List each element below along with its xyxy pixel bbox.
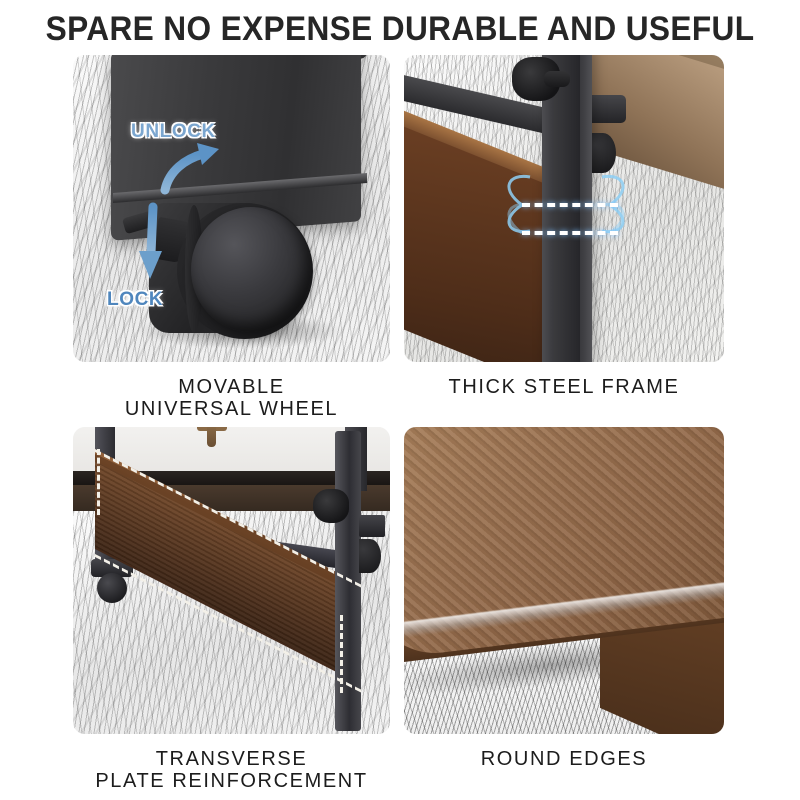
lock-unlock-arrows	[73, 55, 390, 362]
adjustment-knob	[313, 489, 349, 523]
caption-line-1: MOVABLE	[178, 376, 284, 398]
steel-bracket-upper	[359, 515, 385, 537]
plate-outline-dashed-right	[340, 615, 343, 693]
product-photo-transverse-plate	[73, 427, 390, 734]
plate-outline-dashed-left	[97, 449, 100, 515]
page-title-bar: SPARE NO EXPENSE DURABLE AND USEFUL	[0, 6, 800, 52]
caption-line-2: UNIVERSAL WHEEL	[73, 398, 390, 420]
annotation-lock-label: LOCK	[107, 289, 163, 311]
page-title: SPARE NO EXPENSE DURABLE AND USEFUL	[46, 10, 755, 49]
caption-line-1: ROUND EDGES	[481, 748, 648, 770]
feature-panel-thick-steel-frame[interactable]: THICK STEEL FRAME	[404, 55, 724, 398]
lamp-stem-icon	[207, 427, 216, 447]
feature-panel-movable-universal-wheel[interactable]: UNLOCK LOCK MOVABLE UNIVERSAL WHEEL	[73, 55, 390, 421]
panel-caption-movable-universal-wheel: MOVABLE UNIVERSAL WHEEL	[73, 376, 390, 421]
thickness-dashed-line-bottom	[522, 231, 618, 235]
annotation-unlock-label: UNLOCK	[131, 121, 216, 143]
caption-line-1: THICK STEEL FRAME	[449, 376, 680, 398]
caption-line-2: PLATE REINFORCEMENT	[73, 770, 390, 792]
panel-caption-round-edges: ROUND EDGES	[404, 748, 724, 770]
thickness-glow-arcs	[404, 55, 724, 362]
thickness-dashed-line-top	[522, 203, 618, 207]
feature-panel-transverse-plate-reinforcement[interactable]: TRANSVERSE PLATE REINFORCEMENT	[73, 427, 390, 793]
panel-caption-transverse-plate-reinforcement: TRANSVERSE PLATE REINFORCEMENT	[73, 748, 390, 793]
product-photo-caster-wheel: UNLOCK LOCK	[73, 55, 390, 362]
product-photo-steel-frame	[404, 55, 724, 362]
panel-caption-thick-steel-frame: THICK STEEL FRAME	[404, 376, 724, 398]
feature-panel-round-edges[interactable]: ROUND EDGES	[404, 427, 724, 770]
caption-line-1: TRANSVERSE	[156, 748, 308, 770]
product-photo-round-edges	[404, 427, 724, 734]
steel-bracket-lower	[359, 539, 381, 573]
caster-wheel-disc	[97, 573, 127, 603]
feature-panel-grid: UNLOCK LOCK MOVABLE UNIVERSAL WHEEL	[73, 55, 721, 790]
